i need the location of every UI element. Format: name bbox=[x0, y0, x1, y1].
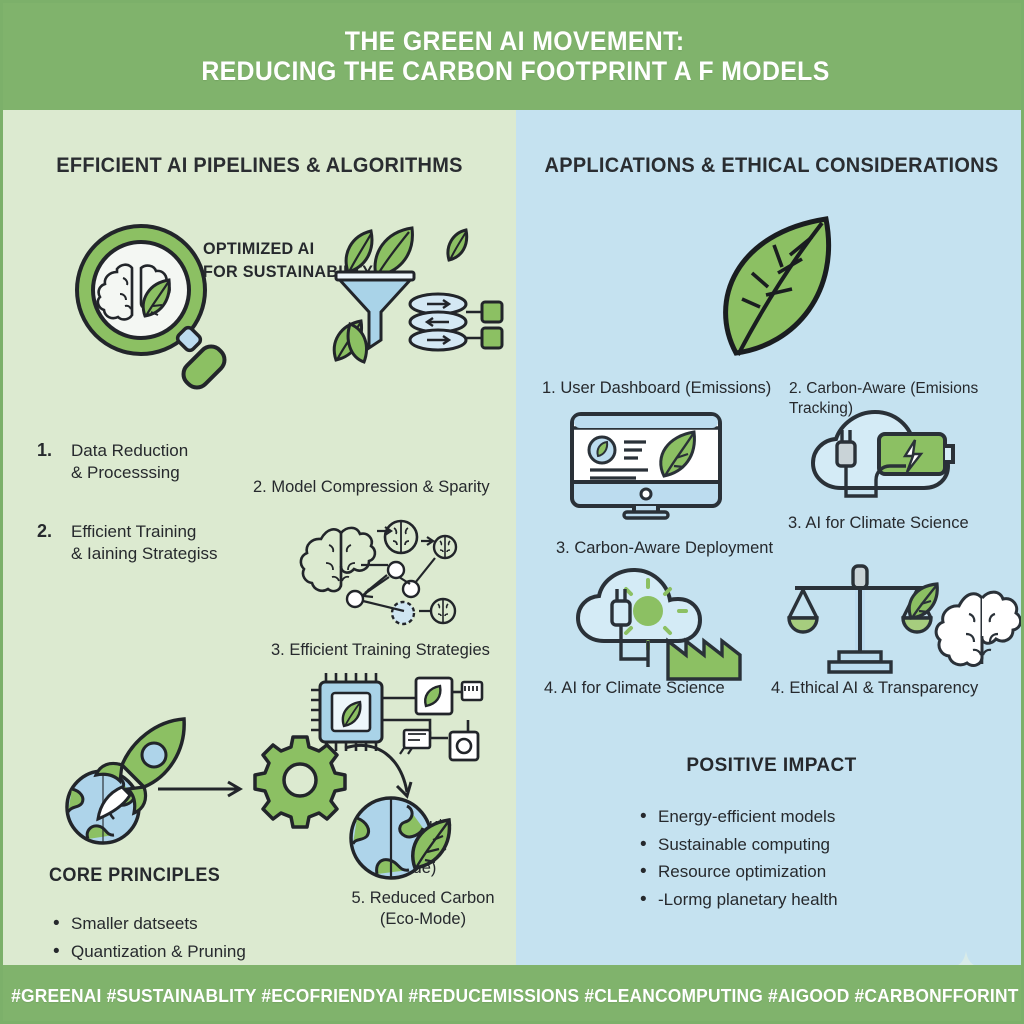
left-caption-model-compression: 2. Model Compression & Sparity bbox=[253, 477, 490, 498]
right-panel: APPLICATIONS & ETHICAL CONSIDERATIONS 1.… bbox=[516, 110, 1024, 965]
poster-title-line-2: REDUCING THE CARBON FOOTPRINT A F MODELS bbox=[201, 57, 829, 86]
knowledge-distillation-icon bbox=[293, 515, 463, 625]
right-caption-carbon-aware-deployment: 3. Carbon-Aware Deployment bbox=[556, 538, 773, 559]
cloud-solar-factory-icon bbox=[566, 565, 756, 680]
right-caption-ai-climate-science-lower: 4. AI for Climate Science bbox=[544, 678, 725, 699]
poster-body: EFFICIENT AI PIPELINES & ALGORITHMS bbox=[3, 110, 1024, 965]
list-item: Smaller datseets bbox=[51, 910, 265, 938]
list-item-number: 1. bbox=[37, 440, 71, 485]
cloud-battery-icon bbox=[801, 408, 1001, 508]
core-principles-heading: CORE PRINCIPLES bbox=[49, 865, 220, 887]
list-item: Sustainable computing bbox=[638, 831, 838, 859]
positive-impact-heading: POSITIVE IMPACT bbox=[516, 755, 1024, 777]
list-item: Quantization & Pruning bbox=[51, 938, 265, 966]
left-numbered-list: 1. Data Reduction & Processsing 2. Effic… bbox=[37, 440, 267, 602]
gear-icon bbox=[255, 735, 345, 825]
infographic-poster: THE GREEN AI MOVEMENT: REDUCING THE CARB… bbox=[0, 0, 1024, 1024]
list-item: Resource optimization bbox=[638, 858, 838, 886]
model-compression-icon bbox=[318, 220, 498, 365]
right-panel-title: APPLICATIONS & ETHICAL CONSIDERATIONS bbox=[529, 152, 1014, 180]
right-caption-user-dashboard: 1. User Dashboard (Emissions) bbox=[542, 378, 771, 399]
poster-title-line-1: THE GREEN AI MOVEMENT: bbox=[345, 27, 685, 56]
globe-leaf-icon bbox=[343, 790, 463, 900]
poster-header: THE GREEN AI MOVEMENT: REDUCING THE CARB… bbox=[3, 3, 1024, 110]
list-item: Energy-efficient models bbox=[638, 803, 838, 831]
positive-impact-bullets: Energy-efficient models Sustainable comp… bbox=[638, 803, 838, 913]
left-panel: EFFICIENT AI PIPELINES & ALGORITHMS bbox=[3, 110, 516, 965]
hashtags-text: #GREENAI #SUSTAINABLITY #ECOFRIENDYAI #R… bbox=[11, 985, 1018, 1007]
list-item-number: 2. bbox=[37, 521, 71, 566]
list-item-label: Data Reduction & Processsing bbox=[71, 440, 188, 485]
right-caption-ethical-ai: 4. Ethical AI & Transparency bbox=[771, 678, 978, 699]
big-leaf-icon bbox=[716, 215, 846, 360]
balance-scales-brain-icon bbox=[781, 562, 1006, 677]
left-caption-reduced-carbon: 5. Reduced Carbon (Eco-Mode) bbox=[323, 888, 523, 931]
right-caption-ai-climate-science-upper: 3. AI for Climate Science bbox=[788, 513, 969, 534]
list-item: 2. Efficient Training & Iaining Strategi… bbox=[37, 521, 267, 566]
list-item: 1. Data Reduction & Processsing bbox=[37, 440, 267, 485]
left-caption-training-strategies: 3. Efficient Training Strategies bbox=[271, 640, 490, 661]
list-item: -Lormg planetary health bbox=[638, 886, 838, 914]
process-arrow-icon bbox=[158, 778, 248, 800]
poster-footer: #GREENAI #SUSTAINABLITY #ECOFRIENDYAI #R… bbox=[3, 965, 1024, 1024]
left-panel-title: EFFICIENT AI PIPELINES & ALGORITHMS bbox=[16, 152, 503, 180]
dashboard-monitor-icon bbox=[566, 410, 736, 520]
list-item-label: Efficient Training & Iaining Strategiss bbox=[71, 521, 217, 566]
